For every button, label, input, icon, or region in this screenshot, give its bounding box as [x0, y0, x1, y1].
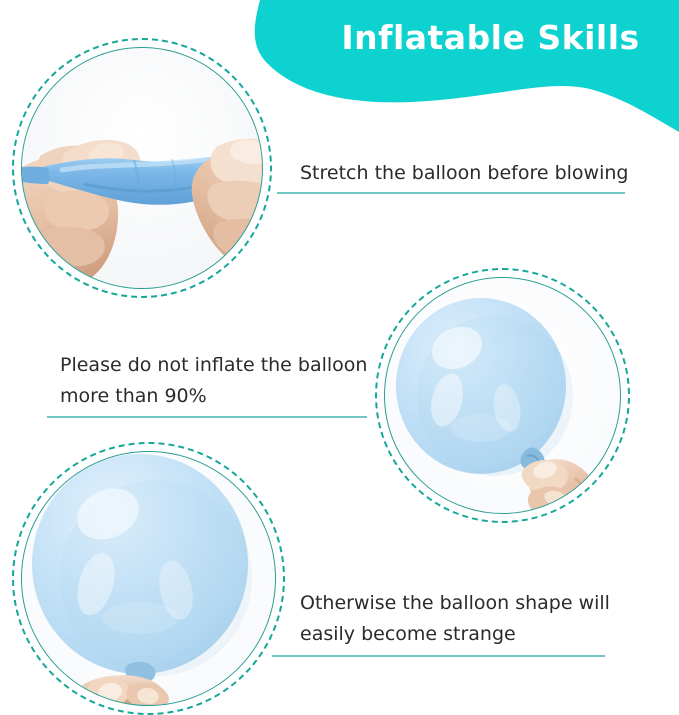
photo-inflated-balloon [385, 278, 620, 513]
photo-large-balloon [22, 452, 275, 705]
caption-stretch: Stretch the balloon before blowing [300, 158, 640, 189]
caption-warning-underline [272, 655, 605, 657]
caption-inflate-limit: Please do not inflate the balloon more t… [60, 350, 370, 412]
caption-warning: Otherwise the balloon shape will easily … [300, 588, 640, 650]
inflated-balloon-illustration [385, 278, 620, 513]
caption-inflate-limit-underline [47, 416, 367, 418]
large-balloon-illustration [22, 452, 275, 705]
caption-stretch-underline [277, 192, 625, 194]
page-title: Inflatable Skills [318, 18, 663, 57]
photo-stretch-balloon [22, 48, 262, 288]
inflatable-skills-infographic: Inflatable Skills [0, 0, 679, 715]
stretch-balloon-illustration [22, 48, 262, 288]
